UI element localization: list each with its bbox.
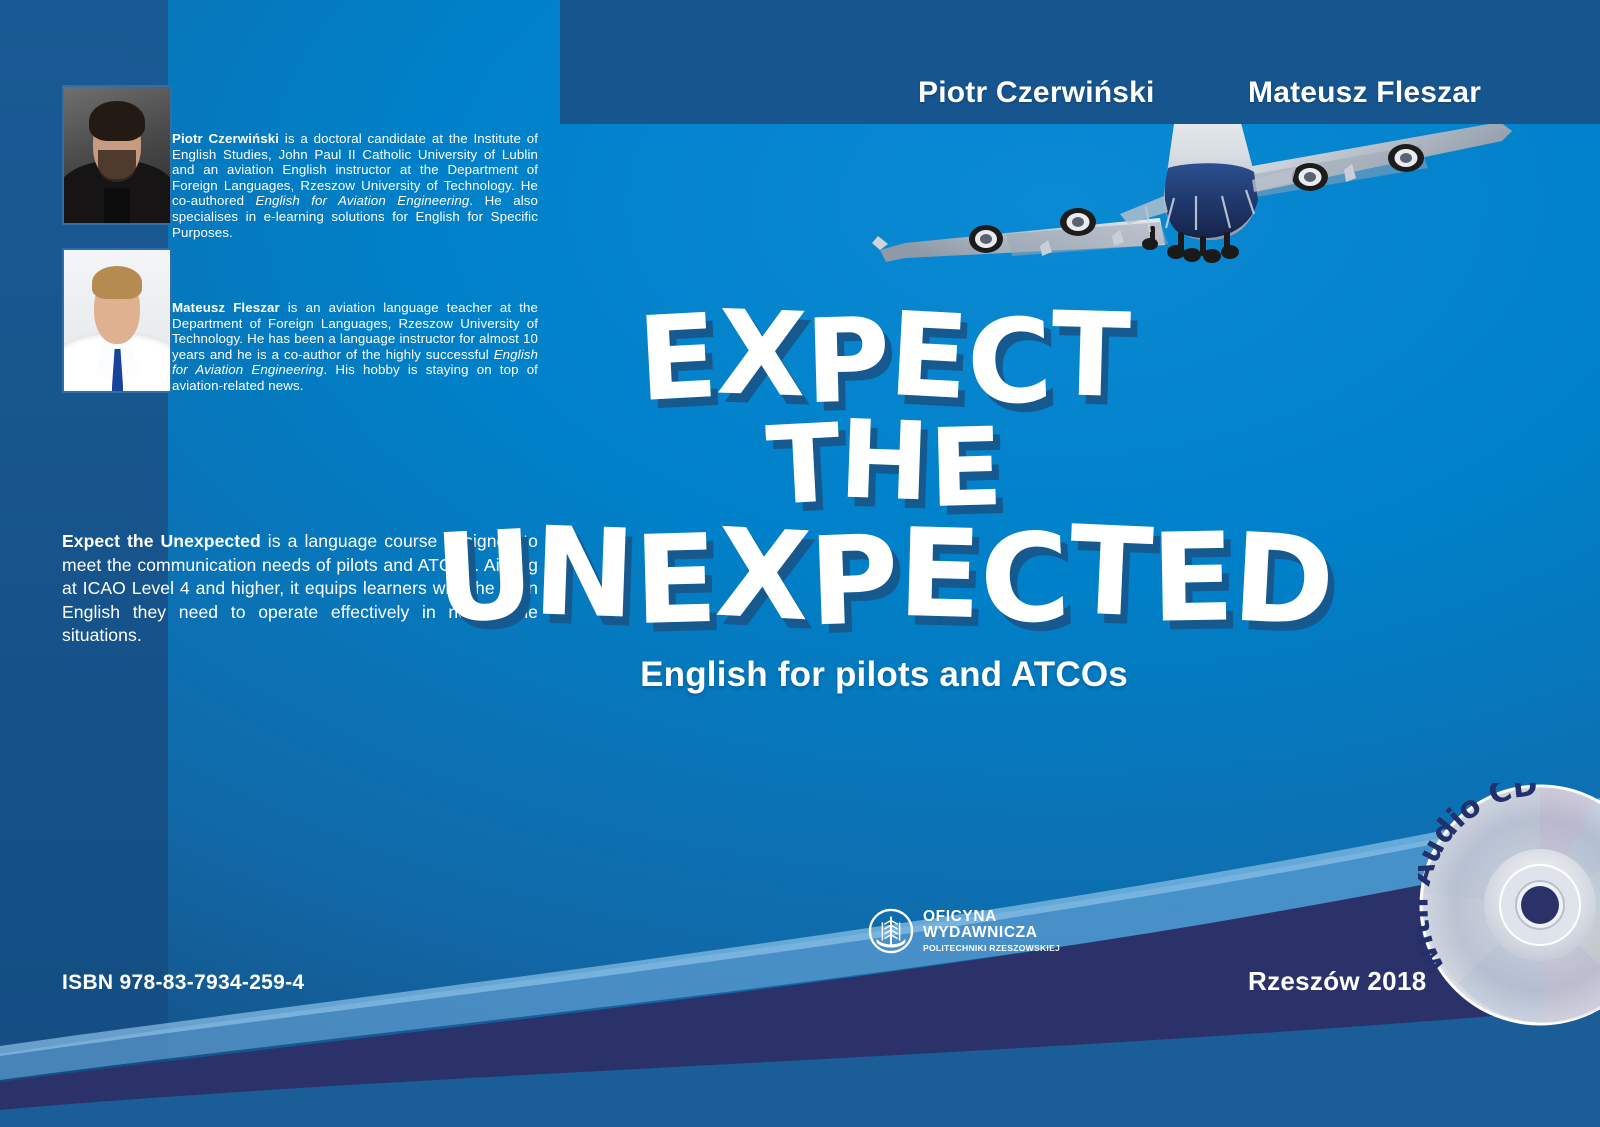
book-title: EXPECT THE UNEXPECTED [168,300,1600,638]
author-name-2: Mateusz Fleszar [1248,76,1481,110]
place-and-year: Rzeszów 2018 [1248,966,1426,997]
author-name-1: Piotr Czerwiński [918,76,1155,110]
open-book-wheat-emblem-icon [868,908,914,954]
title-line-3: UNEXPECTED [168,516,1600,638]
author-bio-1: Piotr Czerwiński is a doctoral candidate… [172,131,538,240]
bio-1-italic: English for Aviation Engineering [256,193,470,208]
author-portrait-2 [62,248,172,393]
book-cover: Piotr Czerwiński Mateusz Fleszar Piotr C… [0,0,1600,1127]
author-portrait-1 [62,85,172,225]
title-line-2: THE [168,411,1600,520]
publisher-line-3: POLITECHNIKI RZESZOWSKIEJ [923,944,1060,953]
audio-cd-disc [1418,783,1600,1027]
publisher-line-2: WYDAWNICZA [923,925,1060,941]
book-subtitle: English for pilots and ATCOs [168,655,1600,695]
isbn-text: ISBN 978-83-7934-259-4 [62,971,304,995]
publisher-line-1: OFICYNA [923,909,1060,925]
bio-1-name: Piotr Czerwiński [172,131,279,146]
publisher-logo: OFICYNA WYDAWNICZA POLITECHNIKI RZESZOWS… [868,908,1060,954]
